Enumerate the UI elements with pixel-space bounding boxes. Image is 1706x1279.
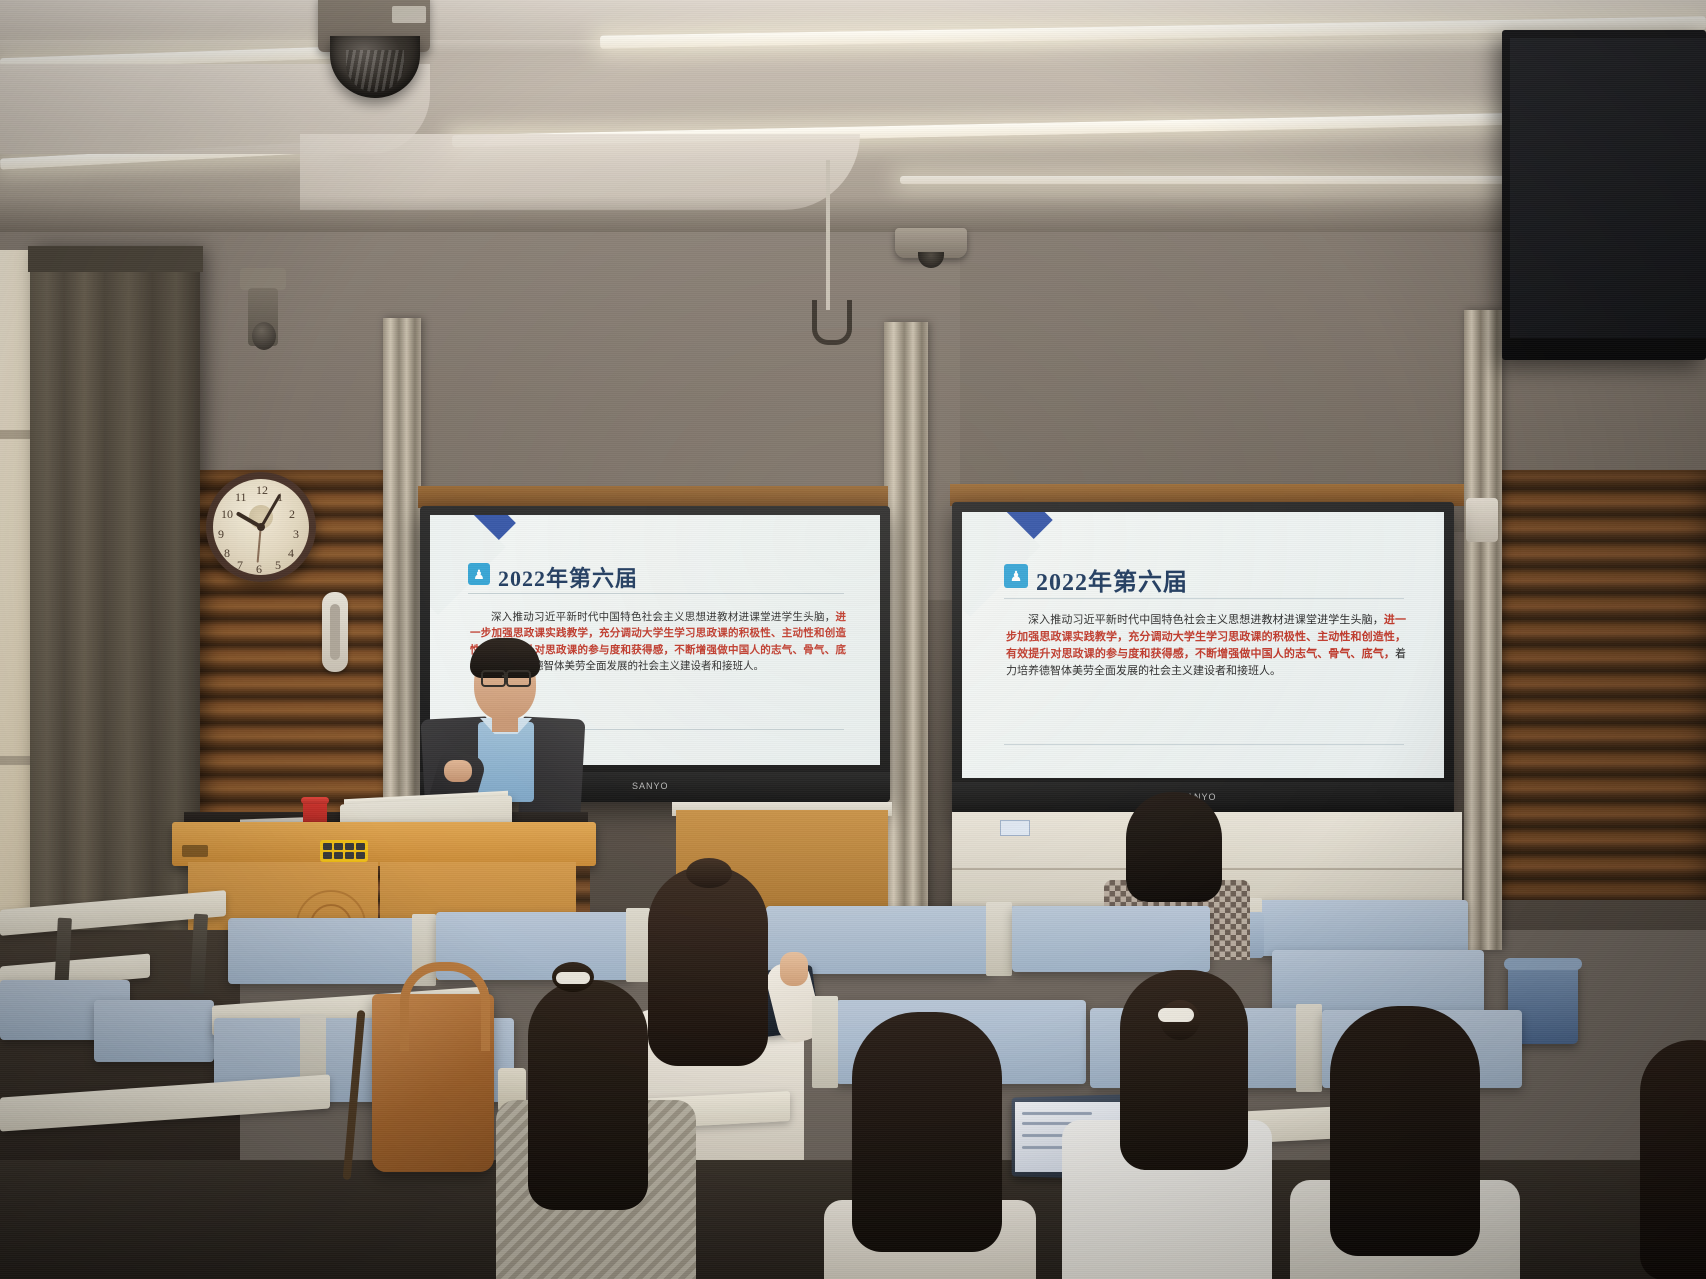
audience-member-hair-bun xyxy=(686,858,732,888)
slide-title-rule xyxy=(1004,598,1404,599)
slide-body-text: 深入推动习近平新时代中国特色社会主义思想进教材进课堂进学生头脑，进一步加强思政课… xyxy=(1006,612,1406,680)
aluminum-pillar-center xyxy=(884,322,928,942)
wall-mount-bracket xyxy=(240,268,286,290)
keypad-key[interactable] xyxy=(334,852,343,859)
slide-title: 2022年第六届 xyxy=(498,561,638,593)
audience-member-head xyxy=(1330,1006,1480,1256)
clock-number-9: 9 xyxy=(218,527,224,542)
slide-body-plain-1: 深入推动习近平新时代中国特色社会主义思想进教材进课堂进学生头脑， xyxy=(491,611,836,623)
clock-number-6: 6 xyxy=(256,562,262,577)
seat-strap xyxy=(986,902,1012,976)
left-display-brand: SANYO xyxy=(632,781,669,791)
ceiling-cable xyxy=(826,160,830,310)
glasses-icon-bridge xyxy=(502,675,508,677)
keypad-key[interactable] xyxy=(356,852,365,859)
podium-top-edge xyxy=(172,822,596,866)
clock-number-8: 8 xyxy=(224,546,230,561)
podium-logo xyxy=(182,845,208,857)
audience-member-head xyxy=(648,866,768,1066)
clock-number-2: 2 xyxy=(289,507,295,522)
ceiling-hook-icon xyxy=(812,300,852,345)
slide-body-plain-1: 深入推动习近平新时代中国特色社会主义思想进教材进课堂进学生头脑， xyxy=(1028,614,1384,626)
laptop-content-line xyxy=(1022,1112,1092,1115)
hair-tie xyxy=(556,972,590,984)
audience-member-hand xyxy=(780,952,808,986)
slide-bottom-rule xyxy=(1004,744,1404,745)
slide-badge-glyph: ♟ xyxy=(1010,569,1023,583)
podium-keypad[interactable] xyxy=(320,840,368,862)
camera-label-sticker xyxy=(392,6,426,23)
lecture-hall-photo: 12 1 2 3 4 5 6 7 8 9 10 11 xyxy=(0,0,1706,1279)
clock-number-4: 4 xyxy=(288,546,294,561)
clock-number-3: 3 xyxy=(293,527,299,542)
cabinet-label-tag xyxy=(1000,820,1030,836)
clock-number-10: 10 xyxy=(221,507,233,522)
tv-screen xyxy=(1510,38,1706,338)
audience-member-head xyxy=(528,980,648,1210)
slide-badge-glyph: ♟ xyxy=(473,568,485,581)
clock-center-cap xyxy=(257,523,265,531)
audience-member-head xyxy=(1126,792,1222,902)
hair-tie xyxy=(1158,1008,1194,1022)
wall-sensor-lens-icon xyxy=(252,322,276,350)
wall-clock: 12 1 2 3 4 5 6 7 8 9 10 11 xyxy=(206,472,316,582)
seat-strap xyxy=(1296,1004,1322,1092)
paper-cup-rim xyxy=(301,797,329,804)
seat-strap xyxy=(812,996,838,1088)
thermostat-display xyxy=(330,604,340,660)
keypad-key[interactable] xyxy=(345,843,354,850)
waste-bin-rim xyxy=(1504,958,1582,970)
wood-valance-left xyxy=(418,486,888,508)
seat-back xyxy=(1258,900,1468,956)
glasses-icon-left-lens xyxy=(481,670,506,687)
right-interactive-display[interactable]: ♟ 2022年第六届 深入推动习近平新时代中国特色社会主义思想进教材进课堂进学生… xyxy=(952,502,1454,814)
clock-second-hand xyxy=(257,527,262,563)
keypad-key[interactable] xyxy=(356,843,365,850)
slide-title: 2022年第六届 xyxy=(1036,562,1188,597)
slide-title-rule xyxy=(468,593,844,594)
pillar-access-plate xyxy=(1466,498,1498,542)
seat-back xyxy=(94,1000,214,1062)
presenter-hand xyxy=(444,760,472,782)
glasses-icon-right-lens xyxy=(506,670,531,687)
keypad-key[interactable] xyxy=(345,852,354,859)
audience-member-head xyxy=(1640,1040,1706,1279)
slide-right: ♟ 2022年第六届 深入推动习近平新时代中国特色社会主义思想进教材进课堂进学生… xyxy=(962,512,1444,778)
seat-strap xyxy=(626,908,650,982)
clock-number-11: 11 xyxy=(235,490,247,505)
seat-back xyxy=(228,918,418,984)
clock-number-12: 12 xyxy=(256,483,268,498)
seat-back xyxy=(1012,906,1210,972)
curtain-rail xyxy=(28,246,203,272)
keypad-key[interactable] xyxy=(334,843,343,850)
aluminum-pillar-right xyxy=(1464,310,1502,950)
keypad-key[interactable] xyxy=(323,843,332,850)
clock-number-5: 5 xyxy=(275,558,281,573)
bag-handle xyxy=(400,962,490,1051)
keypad-key[interactable] xyxy=(323,852,332,859)
right-display-screen[interactable]: ♟ 2022年第六届 深入推动习近平新时代中国特色社会主义思想进教材进课堂进学生… xyxy=(962,512,1444,778)
clock-number-7: 7 xyxy=(237,558,243,573)
slide-badge-icon: ♟ xyxy=(1004,564,1028,588)
wood-slat-wall-right xyxy=(1490,470,1706,900)
audience-member-head xyxy=(852,1012,1002,1252)
slide-badge-icon: ♟ xyxy=(468,563,490,585)
